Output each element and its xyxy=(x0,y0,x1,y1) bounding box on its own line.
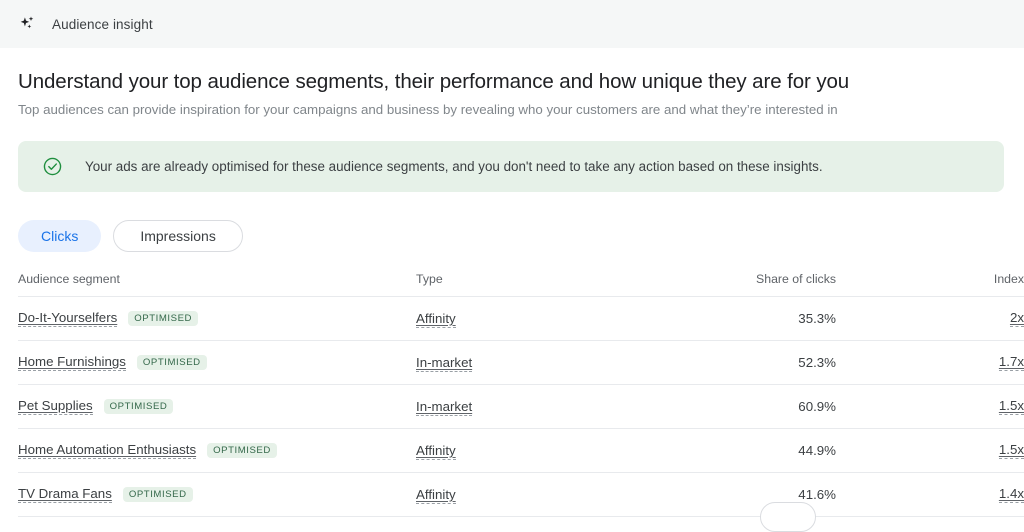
table-row[interactable]: Pet Supplies OPTIMISED In-market 60.9% 1… xyxy=(18,385,1024,429)
table-row[interactable]: Do-It-Yourselfers OPTIMISED Affinity 35.… xyxy=(18,297,1024,341)
cell-audience-segment: Do-It-Yourselfers OPTIMISED xyxy=(18,297,416,341)
cell-audience-segment: Home Automation Enthusiasts OPTIMISED xyxy=(18,429,416,473)
cell-share-of-clicks: 60.9% xyxy=(746,385,836,429)
column-header-index: Index xyxy=(836,272,1024,297)
cell-type: In-market xyxy=(416,341,746,385)
segment-name-link[interactable]: Pet Supplies xyxy=(18,398,93,415)
type-link[interactable]: Affinity xyxy=(416,487,456,504)
index-value[interactable]: 1.7x xyxy=(999,354,1024,371)
cell-type: Affinity xyxy=(416,297,746,341)
cell-index: 2x xyxy=(836,297,1024,341)
index-value[interactable]: 1.5x xyxy=(999,398,1024,415)
status-banner-text: Your ads are already optimised for these… xyxy=(85,158,823,176)
app-header: Audience insight xyxy=(0,0,1024,48)
status-banner: Your ads are already optimised for these… xyxy=(18,141,1004,192)
tab-clicks[interactable]: Clicks xyxy=(18,220,101,252)
type-link[interactable]: Affinity xyxy=(416,311,456,328)
page-title: Understand your top audience segments, t… xyxy=(18,69,1006,95)
check-circle-icon xyxy=(42,156,63,177)
status-badge: OPTIMISED xyxy=(123,487,193,503)
segment-name-link[interactable]: TV Drama Fans xyxy=(18,486,112,503)
cell-type: In-market xyxy=(416,385,746,429)
segment-name-link[interactable]: Home Automation Enthusiasts xyxy=(18,442,196,459)
table-header-row: Audience segment Type Share of clicks In… xyxy=(18,272,1024,297)
segment-name-link[interactable]: Home Furnishings xyxy=(18,354,126,371)
cell-audience-segment: Home Furnishings OPTIMISED xyxy=(18,341,416,385)
type-link[interactable]: In-market xyxy=(416,399,472,416)
audience-table: Audience segment Type Share of clicks In… xyxy=(18,272,1024,517)
cell-index: 1.5x xyxy=(836,385,1024,429)
show-more-button[interactable] xyxy=(760,502,816,532)
segment-name-link[interactable]: Do-It-Yourselfers xyxy=(18,310,117,327)
cell-index: 1.5x xyxy=(836,429,1024,473)
cell-audience-segment: Pet Supplies OPTIMISED xyxy=(18,385,416,429)
cell-type: Affinity xyxy=(416,429,746,473)
table-row[interactable]: Home Furnishings OPTIMISED In-market 52.… xyxy=(18,341,1024,385)
page-subtitle: Top audiences can provide inspiration fo… xyxy=(18,101,1006,119)
cell-share-of-clicks: 44.9% xyxy=(746,429,836,473)
type-link[interactable]: Affinity xyxy=(416,443,456,460)
metric-tab-group: Clicks Impressions xyxy=(18,220,1006,252)
status-badge: OPTIMISED xyxy=(207,443,277,459)
tab-impressions[interactable]: Impressions xyxy=(113,220,242,252)
status-badge: OPTIMISED xyxy=(137,355,207,371)
type-link[interactable]: In-market xyxy=(416,355,472,372)
status-badge: OPTIMISED xyxy=(104,399,174,415)
table-header: Audience segment Type Share of clicks In… xyxy=(18,272,1024,297)
cell-share-of-clicks: 35.3% xyxy=(746,297,836,341)
index-value[interactable]: 2x xyxy=(1010,310,1024,327)
status-badge: OPTIMISED xyxy=(128,311,198,327)
cell-index: 1.7x xyxy=(836,341,1024,385)
sparkle-icon xyxy=(18,14,38,34)
main-content: Understand your top audience segments, t… xyxy=(0,69,1024,517)
app-title: Audience insight xyxy=(52,17,153,32)
column-header-audience-segment: Audience segment xyxy=(18,272,416,297)
cell-share-of-clicks: 52.3% xyxy=(746,341,836,385)
table-body: Do-It-Yourselfers OPTIMISED Affinity 35.… xyxy=(18,297,1024,517)
index-value[interactable]: 1.4x xyxy=(999,486,1024,503)
column-header-type: Type xyxy=(416,272,746,297)
column-header-share-of-clicks: Share of clicks xyxy=(746,272,836,297)
index-value[interactable]: 1.5x xyxy=(999,442,1024,459)
table-row[interactable]: Home Automation Enthusiasts OPTIMISED Af… xyxy=(18,429,1024,473)
